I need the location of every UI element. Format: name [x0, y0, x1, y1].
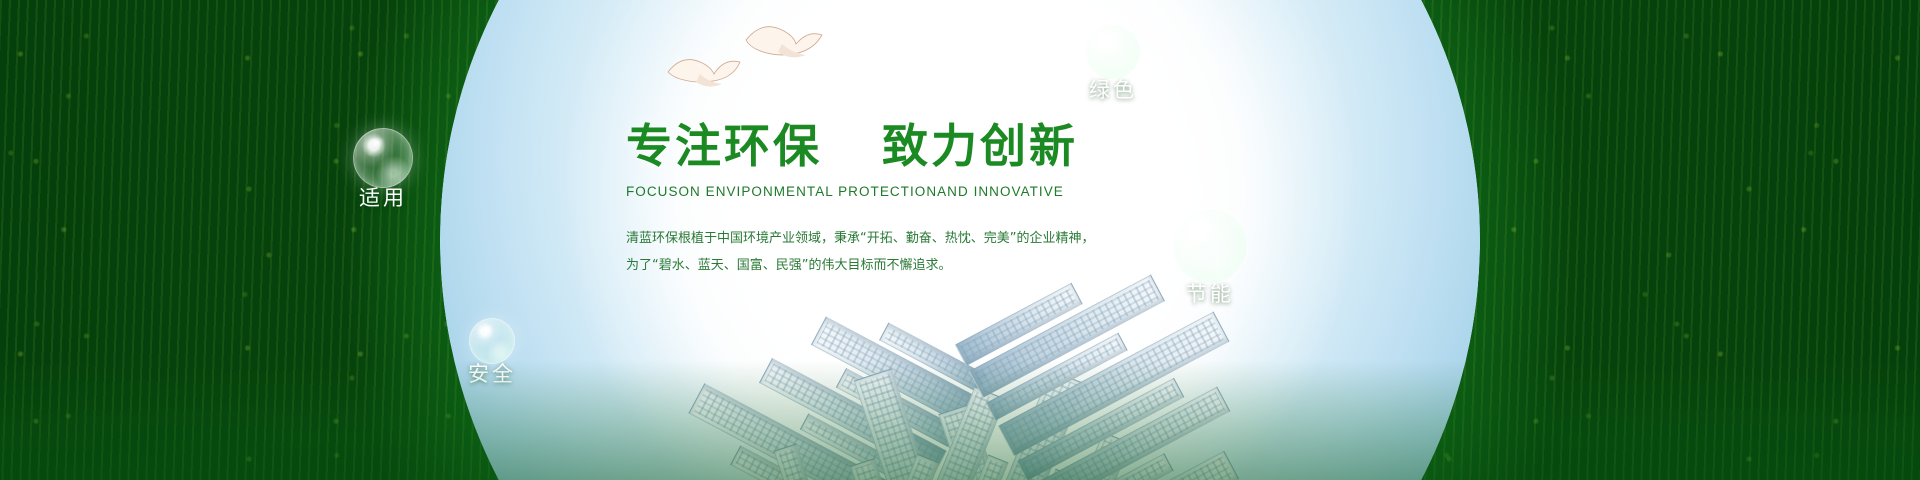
- page-title: 专注环保 致力创新: [626, 122, 1326, 172]
- eco-banner: 专注环保 致力创新 FOCUSON ENVIPONMENTAL PROTECTI…: [0, 0, 1920, 480]
- subheadline: FOCUSON ENVIPONMENTAL PROTECTIONAND INNO…: [626, 184, 1326, 199]
- keyword-applicable: 适用: [318, 128, 448, 212]
- bubble-icon: [1172, 208, 1248, 284]
- bubble-icon: [1085, 24, 1141, 80]
- keyword-safety: 安全: [432, 318, 552, 388]
- headline-part-1: 专注环保: [626, 119, 822, 173]
- bubble-icon: [469, 318, 515, 364]
- bubble-icon: [353, 128, 413, 188]
- headline-part-2: 致力创新: [882, 119, 1078, 173]
- keyword-green: 绿色: [1048, 24, 1178, 104]
- keyword-energy-saving: 节能: [1140, 208, 1280, 308]
